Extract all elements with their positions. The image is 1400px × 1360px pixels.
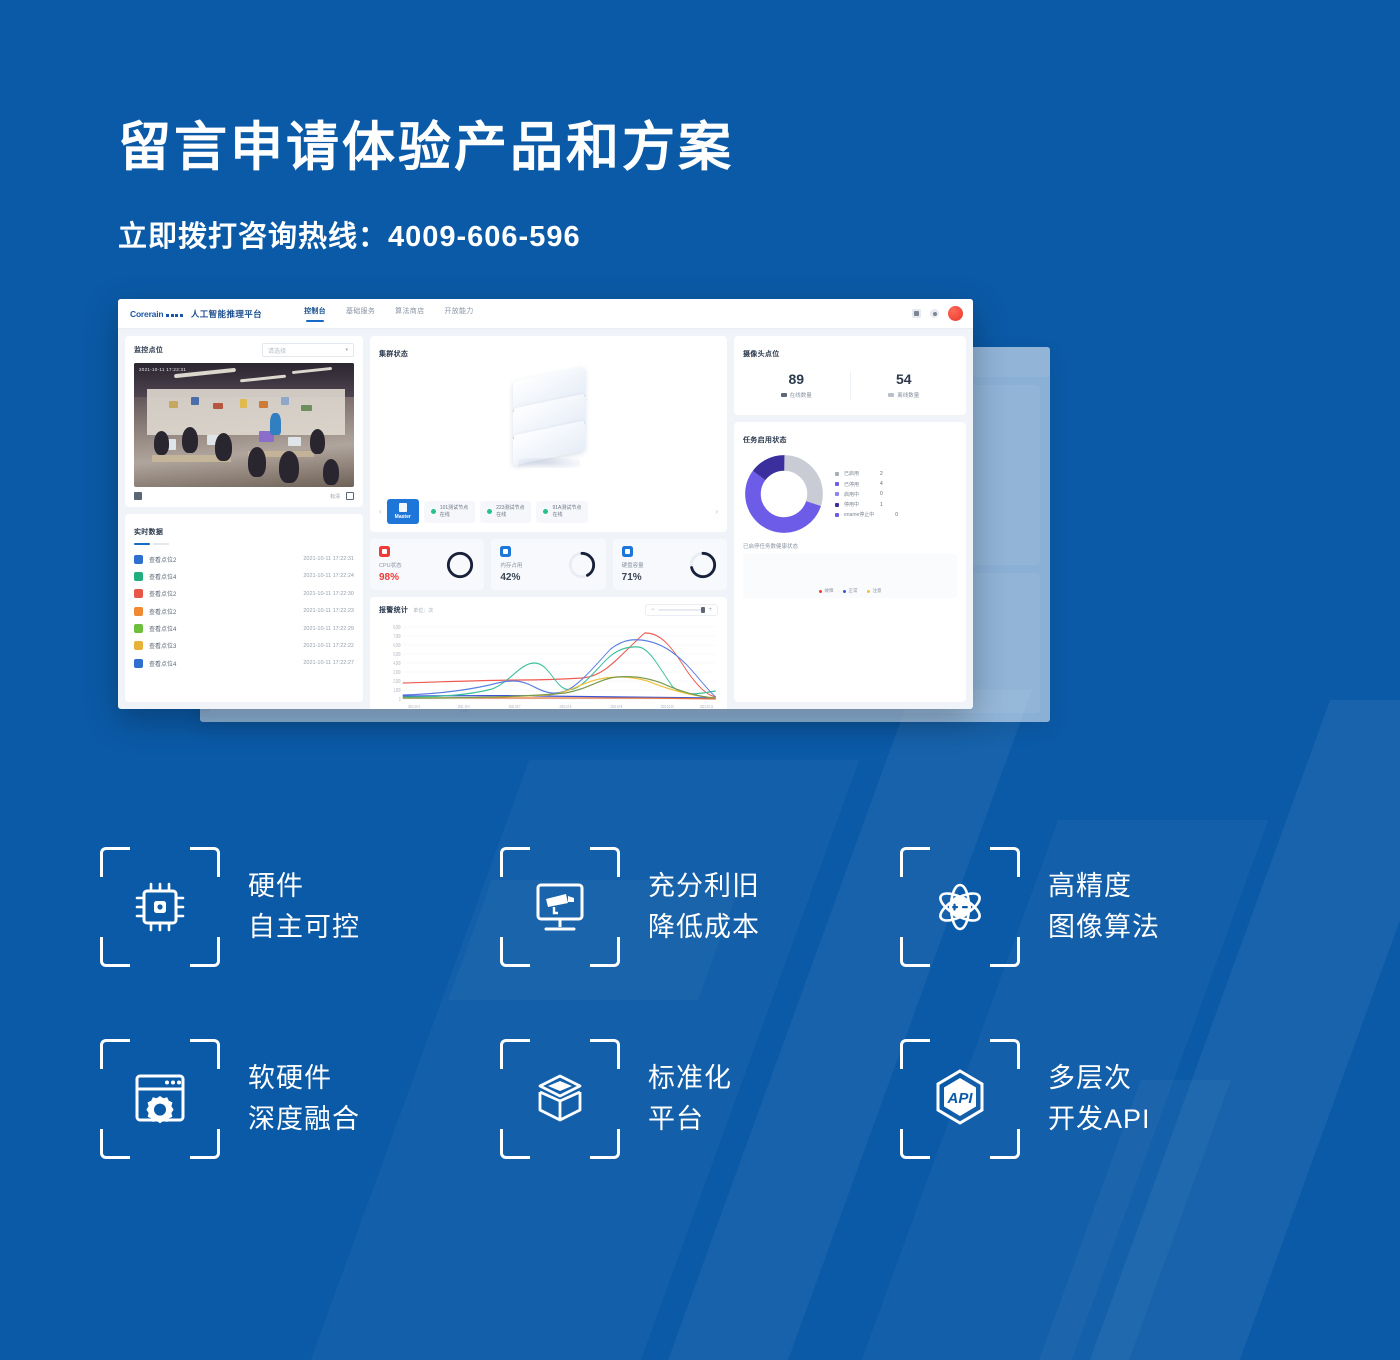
window-gear-icon xyxy=(129,1070,191,1128)
gauge-value: 98% xyxy=(379,572,402,583)
event-name: 查看点位2 xyxy=(149,607,176,616)
chevron-down-icon: ▾ xyxy=(345,347,348,353)
list-item[interactable]: 查看点位4 2021-10-11 17:22:27 xyxy=(134,655,354,672)
node-name: 223测试节点 xyxy=(496,505,524,511)
node-chip-master[interactable]: Master xyxy=(387,499,419,524)
task-donut-chart xyxy=(743,453,825,535)
legend-value: 1 xyxy=(880,502,883,508)
gauge-ring-icon xyxy=(567,550,597,580)
gauge-cpu: CPU状态 98% xyxy=(370,539,484,590)
svg-text:2021-10-4: 2021-10-4 xyxy=(458,705,470,710)
svg-text:5,000: 5,000 xyxy=(393,651,401,657)
video-feed[interactable]: 2021-10-11 17:22:31 xyxy=(134,363,354,487)
maximize-icon[interactable] xyxy=(930,309,939,318)
features-section: 硬件 自主可控 充分利旧 降低成本 xyxy=(0,847,1400,1159)
legend-label: 已停用 xyxy=(844,481,859,488)
legend-item: 停用中1 xyxy=(835,499,898,509)
feature-line-2: 图像算法 xyxy=(1048,907,1160,949)
event-name: 查看点位3 xyxy=(149,641,176,650)
event-time: 2021-10-11 17:22:27 xyxy=(303,660,354,666)
camera-panel: 摄像头点位 89 在线数量 54 离线数量 xyxy=(734,336,966,415)
cluster-panel: 集群状态 ‹ Master xyxy=(370,336,727,532)
event-name: 查看点位4 xyxy=(149,624,176,633)
server-stack-icon xyxy=(506,374,592,470)
logo-dots-icon xyxy=(166,314,183,317)
feature-icon-frame xyxy=(500,1039,620,1159)
feature-reuse: 充分利旧 降低成本 xyxy=(500,847,900,967)
svg-text:2,000: 2,000 xyxy=(393,678,401,684)
event-time: 2021-10-11 17:22:23 xyxy=(303,608,354,614)
brand-logo: Corerain xyxy=(130,310,183,319)
carousel-prev-icon[interactable]: ‹ xyxy=(379,507,382,516)
bottle-icon xyxy=(134,572,143,581)
carousel-next-icon[interactable]: › xyxy=(715,507,718,516)
page-title: 留言申请体验产品和方案 xyxy=(118,118,1400,177)
event-time: 2021-10-11 17:22:29 xyxy=(303,626,354,632)
minimize-icon[interactable] xyxy=(912,309,921,318)
nav-item-openapi[interactable]: 开放能力 xyxy=(444,306,473,322)
person-icon xyxy=(134,659,143,668)
task-status-panel: 任务启用状态 已启用2 已停用4 启用中0 停用中1 ename停止中 xyxy=(734,422,966,702)
feature-line-1: 硬件 xyxy=(248,866,360,908)
event-name: 查看点位4 xyxy=(149,659,176,668)
event-name: 查看点位4 xyxy=(149,572,176,581)
list-item[interactable]: 查看点位2 2021-10-11 17:22:23 xyxy=(134,602,354,619)
dashboard-body: 监控点位 请选择 ▾ xyxy=(118,329,973,709)
slider-plus-icon[interactable]: + xyxy=(708,607,712,613)
gauge-label: 内存占用 xyxy=(500,561,522,569)
event-time: 2021-10-11 17:22:31 xyxy=(303,556,354,562)
svg-text:0: 0 xyxy=(399,696,401,702)
feature-line-2: 平台 xyxy=(648,1099,732,1141)
close-icon[interactable] xyxy=(948,306,963,321)
camera-panel-title: 摄像头点位 xyxy=(743,351,780,358)
list-item[interactable]: 查看点位4 2021-10-11 17:22:24 xyxy=(134,568,354,585)
svg-text:2021-10-10: 2021-10-10 xyxy=(661,705,674,710)
feature-text: 标准化 平台 xyxy=(648,1058,732,1142)
legend-item: 启用中0 xyxy=(835,489,898,499)
feature-line-1: 标准化 xyxy=(648,1058,732,1100)
node-chip[interactable]: 91A测试节点在线 xyxy=(536,501,588,524)
svg-text:4,000: 4,000 xyxy=(393,660,401,666)
svg-text:2021-10-9: 2021-10-9 xyxy=(610,705,622,710)
task-legend: 已启用2 已停用4 启用中0 停用中1 ename停止中0 xyxy=(835,469,898,520)
alarm-panel-title: 报警统计 xyxy=(379,605,408,615)
feature-algorithm: 高精度 图像算法 xyxy=(900,847,1300,967)
legend-item: 正常 xyxy=(843,588,858,594)
video-timestamp: 2021-10-11 17:22:31 xyxy=(139,367,186,372)
cluster-panel-title: 集群状态 xyxy=(379,351,408,358)
task-panel-title: 任务启用状态 xyxy=(743,437,787,444)
gauge-memory: 内存占用 42% xyxy=(491,539,605,590)
feature-line-2: 深度融合 xyxy=(248,1099,360,1141)
nav-item-services[interactable]: 基础服务 xyxy=(346,306,375,322)
disk-icon xyxy=(622,546,633,557)
event-time: 2021-10-11 17:22:30 xyxy=(303,591,354,597)
grid-layout-icon[interactable] xyxy=(134,492,142,500)
video-controls: 标清 xyxy=(134,492,354,500)
event-panel-title: 实时数据 xyxy=(134,529,163,536)
list-item[interactable]: 查看点位4 2021-10-11 17:22:29 xyxy=(134,620,354,637)
video-quality-label[interactable]: 标清 xyxy=(330,493,340,500)
app-titlebar: Corerain 人工智能推理平台 控制台 基础服务 算法商店 开放能力 xyxy=(118,299,973,329)
legend-item: 注意 xyxy=(867,588,882,594)
list-item[interactable]: 查看点位2 2021-10-11 17:22:30 xyxy=(134,585,354,602)
camera-offline-icon xyxy=(888,393,894,397)
feature-text: 充分利旧 降低成本 xyxy=(648,866,760,950)
time-range-slider[interactable]: − + xyxy=(645,604,718,616)
stat-value: 89 xyxy=(743,371,850,387)
product-screenshot-group: Corerain 人工智能推理平台 控制台 基础服务 算法商店 开放能力 xyxy=(0,299,1400,769)
main-nav: 控制台 基础服务 算法商店 开放能力 xyxy=(304,306,474,322)
feature-hardware: 硬件 自主可控 xyxy=(100,847,500,967)
resource-gauges: CPU状态 98% 内存占用 42% xyxy=(370,539,727,590)
open-box-icon xyxy=(529,1068,591,1130)
node-name: 101测试节点 xyxy=(440,505,468,511)
legend-item: ename停止中0 xyxy=(835,510,898,520)
feature-icon-frame: API xyxy=(900,1039,1020,1159)
feature-icon-frame xyxy=(900,847,1020,967)
feature-line-2: 自主可控 xyxy=(248,907,360,949)
svg-text:API: API xyxy=(946,1090,973,1107)
stat-value: 54 xyxy=(851,371,958,387)
fire-icon xyxy=(134,607,143,616)
slider-minus-icon[interactable]: − xyxy=(651,607,655,613)
svg-text:1,000: 1,000 xyxy=(393,687,401,693)
status-online-icon xyxy=(543,509,548,514)
memory-icon xyxy=(500,546,511,557)
feature-text: 硬件 自主可控 xyxy=(248,866,360,950)
right-column: 摄像头点位 89 在线数量 54 离线数量 任务启用状态 xyxy=(734,336,966,702)
legend-value: 0 xyxy=(880,491,883,497)
atom-icon xyxy=(928,875,992,939)
node-chip[interactable]: 223测试节点在线 xyxy=(480,501,531,524)
feature-line-1: 充分利旧 xyxy=(648,866,760,908)
gauge-value: 42% xyxy=(500,572,522,583)
legend-label: ename停止中 xyxy=(844,511,874,518)
list-item[interactable]: 查看点位3 2021-10-11 17:22:22 xyxy=(134,637,354,654)
svg-text:2021-10-11: 2021-10-11 xyxy=(700,705,713,710)
feature-line-1: 高精度 xyxy=(1048,866,1160,908)
stat-offline: 54 离线数量 xyxy=(850,371,958,399)
alarm-line-chart: 8,0007,000 6,0005,000 4,0003,000 2,0001,… xyxy=(379,619,718,709)
api-hexagon-icon: API xyxy=(928,1066,992,1132)
nav-item-store[interactable]: 算法商店 xyxy=(395,306,424,322)
person-icon xyxy=(134,555,143,564)
event-panel: 实时数据 查看点位2 2021-10-11 17:22:31 查看点位4 202… xyxy=(125,514,363,702)
middle-column: 集群状态 ‹ Master xyxy=(370,336,727,702)
node-name: 91A测试节点 xyxy=(552,505,581,511)
gauge-ring-icon xyxy=(688,550,718,580)
gauge-disk: 硬盘容量 71% xyxy=(613,539,727,590)
health-mini-chart: 故障 正常 注意 xyxy=(743,554,957,598)
left-column: 监控点位 请选择 ▾ xyxy=(125,336,363,702)
event-name: 查看点位2 xyxy=(149,555,176,564)
feature-icon-frame xyxy=(100,847,220,967)
legend-label: 停用中 xyxy=(844,501,859,508)
stat-label: 离线数量 xyxy=(897,391,919,399)
helmet-icon xyxy=(134,624,143,633)
legend-value: 2 xyxy=(880,471,883,477)
status-online-icon xyxy=(487,509,492,514)
app-title: 人工智能推理平台 xyxy=(191,308,262,320)
feature-integration: 软硬件 深度融合 xyxy=(100,1039,500,1159)
feature-text: 软硬件 深度融合 xyxy=(248,1058,360,1142)
svg-text:2021-10-8: 2021-10-8 xyxy=(560,705,572,710)
feature-line-2: 降低成本 xyxy=(648,907,760,949)
svg-text:3,000: 3,000 xyxy=(393,669,401,675)
event-name: 查看点位2 xyxy=(149,589,176,598)
lock-icon xyxy=(134,641,143,650)
features-row-2: 软硬件 深度融合 标准化 平台 xyxy=(100,1039,1300,1159)
stat-online: 89 在线数量 xyxy=(743,371,850,399)
feature-line-2: 开发API xyxy=(1048,1099,1151,1141)
node-chip[interactable]: 101测试节点在线 xyxy=(424,501,475,524)
video-panel: 监控点位 请选择 ▾ xyxy=(125,336,363,507)
event-time: 2021-10-11 17:22:24 xyxy=(303,573,354,579)
svg-text:8,000: 8,000 xyxy=(393,624,401,630)
stat-label: 在线数量 xyxy=(790,391,812,399)
fullscreen-icon[interactable] xyxy=(346,492,354,500)
gauge-value: 71% xyxy=(622,572,644,583)
svg-text:2021-10-3: 2021-10-3 xyxy=(408,705,420,710)
node-status: 在线 xyxy=(552,512,562,518)
video-panel-title: 监控点位 xyxy=(134,345,163,355)
list-item[interactable]: 查看点位2 2021-10-11 17:22:31 xyxy=(134,550,354,567)
event-time: 2021-10-11 17:22:22 xyxy=(303,643,354,649)
svg-text:7,000: 7,000 xyxy=(393,633,401,639)
task-sub-title: 已启停任务数健康状态 xyxy=(743,542,957,550)
features-row-1: 硬件 自主可控 充分利旧 降低成本 xyxy=(100,847,1300,967)
legend-item: 已停用4 xyxy=(835,479,898,489)
legend-label: 正常 xyxy=(849,588,858,594)
camera-monitor-icon xyxy=(528,875,592,939)
legend-label: 已启用 xyxy=(844,470,859,477)
cpu-icon xyxy=(379,546,390,557)
smoke-icon xyxy=(134,589,143,598)
legend-item: 已启用2 xyxy=(835,469,898,479)
feature-api: API 多层次 开发API xyxy=(900,1039,1300,1159)
feature-text: 多层次 开发API xyxy=(1048,1058,1151,1142)
feature-icon-frame xyxy=(100,1039,220,1159)
server-icon xyxy=(399,503,407,512)
feature-line-1: 软硬件 xyxy=(248,1058,360,1100)
svg-text:6,000: 6,000 xyxy=(393,642,401,648)
gauge-ring-icon xyxy=(445,550,475,580)
svg-text:2021-10-7: 2021-10-7 xyxy=(509,705,521,710)
point-select-value: 请选择 xyxy=(268,346,286,355)
chip-icon xyxy=(129,876,191,938)
hotline-text: 立即拨打咨询热线：4009-606-596 xyxy=(118,213,1400,255)
logo-text: Corerain xyxy=(130,310,163,319)
event-tabs[interactable] xyxy=(134,543,354,545)
nav-item-console[interactable]: 控制台 xyxy=(304,306,326,322)
node-status: 在线 xyxy=(440,512,450,518)
alarm-unit-label: 单位：次 xyxy=(413,607,433,614)
dashboard-screenshot: Corerain 人工智能推理平台 控制台 基础服务 算法商店 开放能力 xyxy=(118,299,973,709)
feature-icon-frame xyxy=(500,847,620,967)
master-label: Master xyxy=(395,514,411,520)
node-carousel: ‹ Master 101测试节点在线 223测试节点在线 xyxy=(379,499,718,524)
camera-online-icon xyxy=(781,393,787,397)
legend-item: 故障 xyxy=(819,588,834,594)
legend-label: 故障 xyxy=(825,588,834,594)
node-status: 在线 xyxy=(496,512,506,518)
point-select[interactable]: 请选择 ▾ xyxy=(262,343,354,357)
hero-section: 留言申请体验产品和方案 立即拨打咨询热线：4009-606-596 xyxy=(0,0,1400,255)
window-controls xyxy=(912,306,963,321)
legend-value: 4 xyxy=(880,481,883,487)
legend-label: 启用中 xyxy=(844,491,859,498)
feature-platform: 标准化 平台 xyxy=(500,1039,900,1159)
slider-handle[interactable] xyxy=(701,607,705,613)
alarm-chart-panel: 报警统计 单位：次 − + xyxy=(370,597,727,709)
gauge-label: 硬盘容量 xyxy=(622,561,644,569)
gauge-label: CPU状态 xyxy=(379,561,402,569)
feature-text: 高精度 图像算法 xyxy=(1048,866,1160,950)
status-online-icon xyxy=(431,509,436,514)
legend-value: 0 xyxy=(895,512,898,518)
legend-label: 注意 xyxy=(873,588,882,594)
feature-line-1: 多层次 xyxy=(1048,1058,1151,1100)
